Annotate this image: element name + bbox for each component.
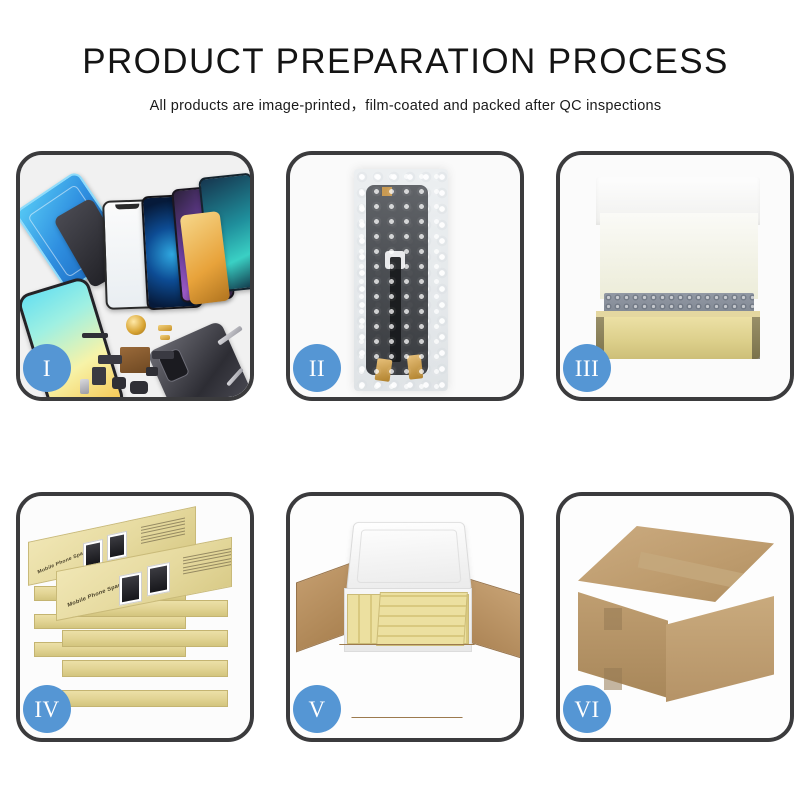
step-badge-5: V: [293, 685, 341, 733]
step-badge-4: IV: [23, 685, 71, 733]
process-step-panel-3: III Open kraft box with bubble sheet pad…: [556, 151, 794, 401]
stacked-box-front-3: [62, 660, 228, 677]
camera-module-part: [112, 377, 126, 389]
process-step-panel-4: Mobile Phone Spare Parts Mobile Phone Sp…: [16, 492, 254, 742]
foam-lid: [346, 522, 472, 593]
sim-tray-part: [80, 379, 89, 394]
carton-left-face: [578, 592, 668, 698]
process-step-panel-6: VI Sealed carton ready for shipping: [556, 492, 794, 742]
box-spec-lines-front: [183, 548, 231, 576]
box-art-phone-front-a: [119, 571, 142, 605]
carton-top-face: [578, 526, 774, 602]
box-inner-liner: [600, 213, 758, 299]
screen-tape-tab: [382, 187, 392, 196]
taptic-engine-part: [130, 381, 148, 394]
bubble-wrap-bag: [354, 169, 448, 391]
page-subtitle: All products are image-printed，film-coat…: [0, 94, 811, 115]
process-step-grid: I Mobile phone screens, glass and spare …: [16, 151, 795, 742]
speaker-coin-part: [126, 315, 146, 335]
kraft-box-front: [596, 317, 760, 359]
process-step-panel-2: II Screen assembly sealed in bubble wrap: [286, 151, 524, 401]
gold-flex-tab-left: [375, 358, 393, 382]
stacked-box-front-4: [62, 690, 228, 707]
step-badge-6: VI: [563, 685, 611, 733]
stacked-box-front-2: [62, 630, 228, 647]
step-badge-1: I: [23, 344, 71, 392]
flex-cable-part-b: [92, 367, 106, 385]
flex-cable-part-a: [98, 355, 122, 364]
carton-front-panel: [330, 644, 484, 718]
box-art-phone-front-b: [147, 562, 170, 596]
step-badge-3: III: [563, 344, 611, 392]
product-preparation-page: PRODUCT PREPARATION PROCESS All products…: [0, 0, 811, 811]
yellow-boxes-row-b: [376, 592, 468, 646]
process-step-panel-5: V Boxes loaded into foam-lined carton: [286, 492, 524, 742]
flex-cable-part-c: [152, 351, 174, 359]
box-spec-lines-rear: [141, 517, 185, 545]
battery-connector-part: [146, 367, 158, 376]
box-art-phone-rear-b: [107, 531, 127, 561]
carton-right-face: [666, 596, 774, 702]
process-step-panel-1: I Mobile phone screens, glass and spare …: [16, 151, 254, 401]
page-header: PRODUCT PREPARATION PROCESS All products…: [0, 42, 811, 115]
carton-seal-tape: [638, 552, 759, 593]
step-badge-2: II: [293, 344, 341, 392]
gold-contact-part-b: [160, 335, 170, 340]
page-title: PRODUCT PREPARATION PROCESS: [0, 42, 811, 81]
gold-flex-tab-right: [407, 354, 423, 379]
earpiece-mesh-part: [82, 333, 108, 338]
carton-tab-upper: [604, 608, 622, 630]
screen-flex-cable: [390, 257, 401, 362]
carton-tab-lower: [604, 668, 622, 690]
gold-contact-part-a: [158, 325, 172, 331]
